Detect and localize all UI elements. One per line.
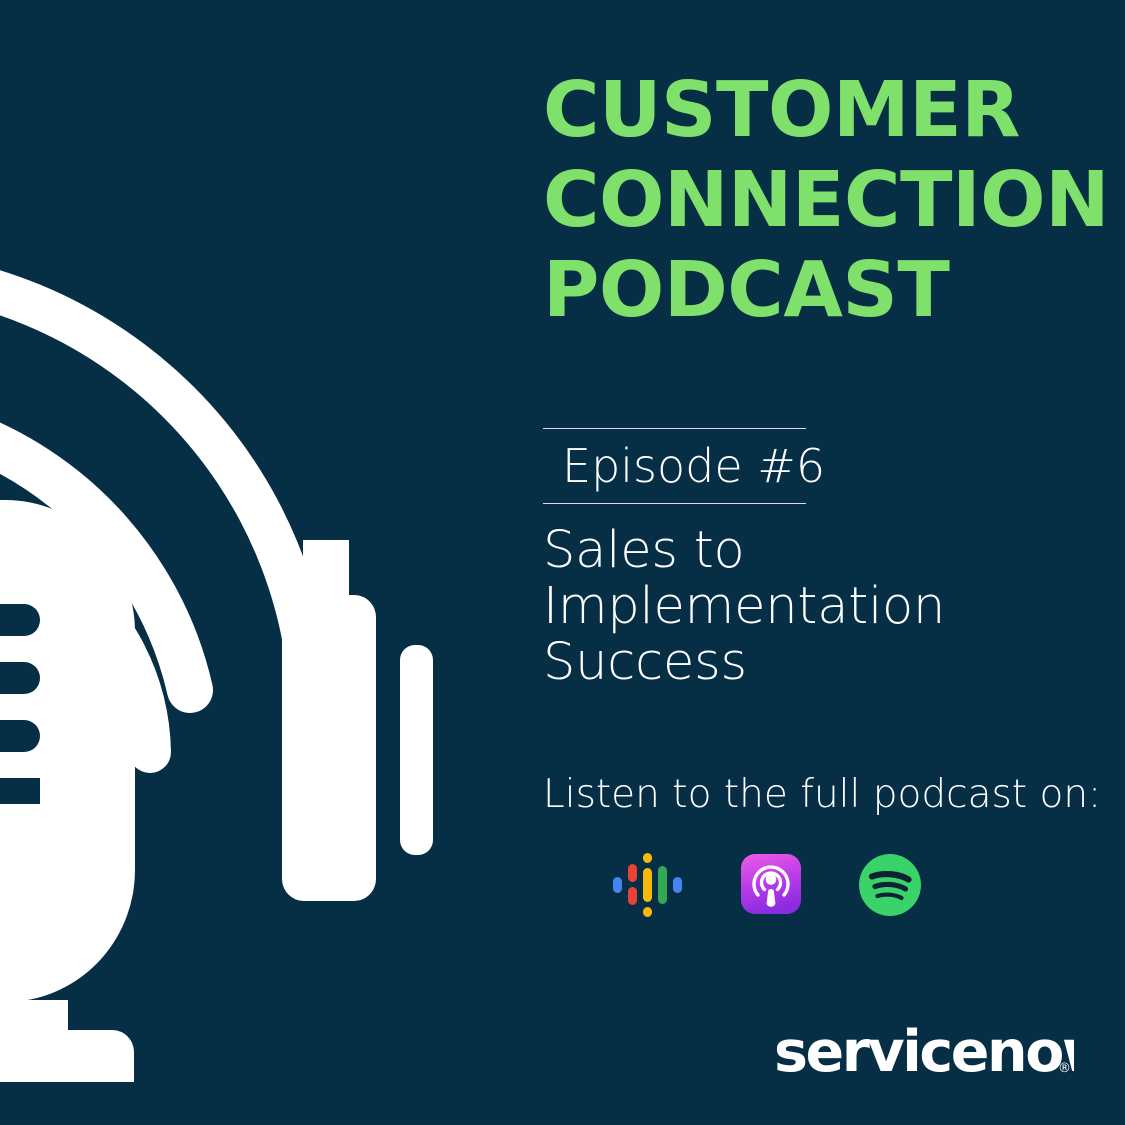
episode-title-line-1: Sales to Implementation: [543, 523, 1103, 635]
microphone-headphones-icon: [0, 0, 470, 1125]
episode-number-label: Episode #6: [543, 429, 806, 503]
registered-trademark-symbol: ®: [1058, 1061, 1071, 1076]
servicenow-text: servicenow: [774, 1022, 1074, 1084]
google-podcasts-glyph: [613, 846, 683, 924]
episode-rule-bottom: [543, 503, 806, 504]
episode-badge: Episode #6: [543, 428, 806, 504]
podcast-title: CUSTOMER CONNECTION PODCAST: [543, 66, 1103, 336]
apple-podcasts-icon[interactable]: [741, 854, 801, 914]
episode-rule-top: [543, 428, 806, 429]
servicenow-logo: servicenow ®: [774, 1022, 1074, 1084]
podcast-promo-poster: CUSTOMER CONNECTION PODCAST Episode #6 S…: [0, 0, 1125, 1125]
spotify-icon[interactable]: [859, 854, 921, 916]
listen-prompt: Listen to the full podcast on:: [543, 771, 1103, 819]
poster-content: CUSTOMER CONNECTION PODCAST Episode #6 S…: [543, 0, 1103, 1125]
title-line-1: CUSTOMER: [543, 66, 1103, 156]
servicenow-wordmark: servicenow ®: [774, 1022, 1074, 1084]
platform-links: [613, 846, 1033, 932]
episode-title: Sales to Implementation Success: [543, 523, 1103, 691]
google-podcasts-icon[interactable]: [613, 846, 683, 924]
title-line-2: CONNECTION: [543, 156, 1103, 246]
podcast-artwork: [0, 0, 470, 1125]
episode-title-line-2: Success: [543, 635, 1103, 691]
title-line-3: PODCAST: [543, 246, 1103, 336]
spotify-glyph: [859, 854, 921, 916]
apple-podcasts-glyph: [741, 854, 801, 914]
